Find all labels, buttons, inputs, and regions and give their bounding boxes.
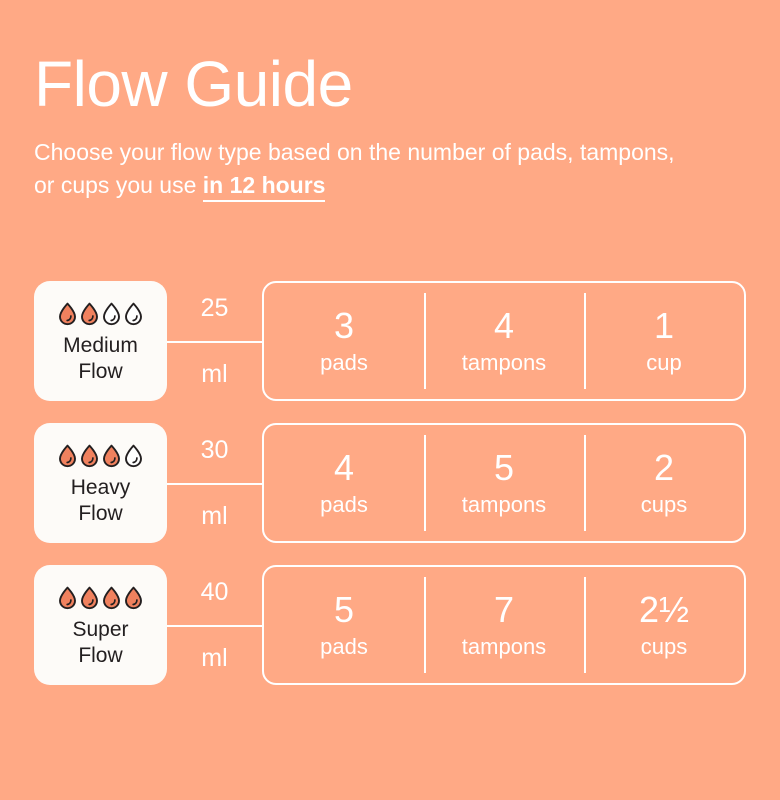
flow-type-card-1[interactable]: HeavyFlow [34,423,167,543]
droplet-rating [58,302,143,326]
volume-unit: ml [201,483,227,543]
droplet-filled-icon [102,444,121,468]
volume-connector: 40ml [167,565,262,685]
droplet-filled-icon [124,586,143,610]
count-value: 2 [654,447,674,489]
count-label: tampons [462,349,546,377]
flow-row: SuperFlow40ml5pads7tampons2½cups [0,565,780,685]
droplet-empty-icon [124,302,143,326]
count-label: pads [320,633,368,661]
count-value: 4 [494,305,514,347]
flow-type-card-2[interactable]: SuperFlow [34,565,167,685]
count-value: 5 [334,589,354,631]
flow-rows: MediumFlow25ml3pads4tampons1cupHeavyFlow… [0,281,780,707]
volume-connector: 30ml [167,423,262,543]
count-label: tampons [462,491,546,519]
droplet-filled-icon [58,302,77,326]
droplet-filled-icon [58,586,77,610]
count-value: 1 [654,305,674,347]
flow-type-label: MediumFlow [63,333,138,385]
volume-amount: 30 [201,423,229,483]
count-value: 5 [494,447,514,489]
subtitle-emphasis-text: in 12 hours [203,172,326,202]
volume-amount: 25 [201,281,229,341]
connector-line [167,483,262,485]
count-label: tampons [462,633,546,661]
count-cell-tampons[interactable]: 5tampons [424,425,584,541]
count-value: 4 [334,447,354,489]
count-cell-pads[interactable]: 3pads [264,283,424,399]
droplet-filled-icon [80,444,99,468]
product-counts-panel: 5pads7tampons2½cups [262,565,746,685]
droplet-filled-icon [58,444,77,468]
volume-unit: ml [201,625,227,685]
count-cell-cups[interactable]: 2½cups [584,567,744,683]
volume-connector: 25ml [167,281,262,401]
volume-unit: ml [201,341,227,401]
count-label: pads [320,349,368,377]
count-cell-cup[interactable]: 1cup [584,283,744,399]
flow-type-card-0[interactable]: MediumFlow [34,281,167,401]
droplet-empty-icon [124,444,143,468]
count-cell-pads[interactable]: 5pads [264,567,424,683]
flow-row: MediumFlow25ml3pads4tampons1cup [0,281,780,401]
count-value: 3 [334,305,354,347]
count-cell-tampons[interactable]: 7tampons [424,567,584,683]
droplet-empty-icon [102,302,121,326]
page-subtitle: Choose your flow type based on the numbe… [34,136,694,202]
count-label: cup [646,349,681,377]
flow-row: HeavyFlow30ml4pads5tampons2cups [0,423,780,543]
count-cell-cups[interactable]: 2cups [584,425,744,541]
flow-type-label: HeavyFlow [71,475,131,527]
count-cell-pads[interactable]: 4pads [264,425,424,541]
page-title: Flow Guide [34,48,734,120]
count-label: cups [641,491,687,519]
volume-amount: 40 [201,565,229,625]
droplet-rating [58,586,143,610]
connector-line [167,625,262,627]
droplet-filled-icon [80,586,99,610]
droplet-rating [58,444,143,468]
droplet-filled-icon [80,302,99,326]
flow-type-label: SuperFlow [72,617,128,669]
count-label: cups [641,633,687,661]
page-header: Flow Guide Choose your flow type based o… [34,48,734,202]
droplet-filled-icon [102,586,121,610]
count-label: pads [320,491,368,519]
count-value: 7 [494,589,514,631]
product-counts-panel: 3pads4tampons1cup [262,281,746,401]
count-cell-tampons[interactable]: 4tampons [424,283,584,399]
subtitle-lead-text: Choose your flow type based on the numbe… [34,139,675,198]
connector-line [167,341,262,343]
product-counts-panel: 4pads5tampons2cups [262,423,746,543]
count-value: 2½ [639,589,689,631]
